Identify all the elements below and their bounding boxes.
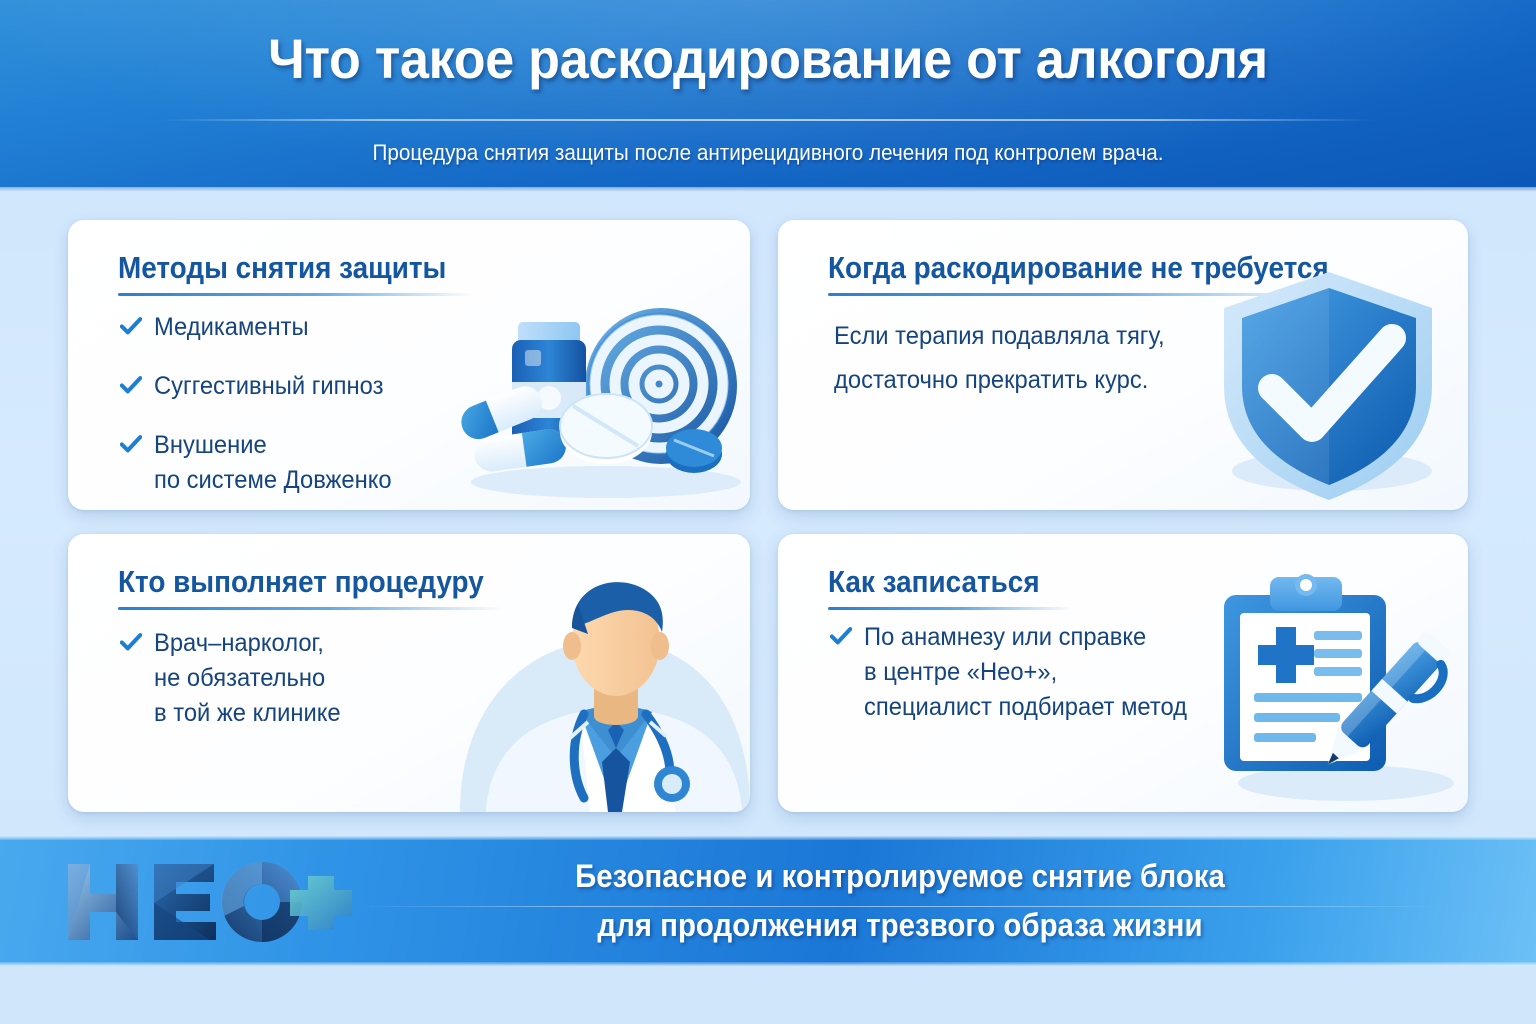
card-title: Методы снятия защиты [118, 250, 651, 286]
list-item-label: Медикаменты [154, 310, 309, 345]
footer-tagline: Безопасное и контролируемое снятие блока… [360, 852, 1440, 950]
list-item: Суггестивный гипноз [120, 369, 404, 404]
list-item-label: Суггестивный гипноз [154, 369, 383, 404]
list-item-label: Врач–нарколог, не обязательно в той же к… [154, 626, 341, 731]
check-icon [120, 433, 142, 455]
page-subtitle: Процедура снятия защиты после антирециди… [46, 140, 1490, 166]
card-how-to-book: Как записаться По анамнезу или справке в… [778, 534, 1468, 812]
neo-plus-logo [62, 858, 352, 946]
list-item: Врач–нарколог, не обязательно в той же к… [120, 626, 350, 731]
title-underline [118, 607, 502, 610]
list-item-label: Внушение по системе Довженко [154, 428, 392, 498]
pills-and-spiral-icon [446, 274, 746, 504]
footer-line-2: для продолжения трезвого образа жизни [403, 901, 1397, 950]
card-title: Когда раскодирование не требуется [828, 250, 1368, 286]
card-header: Кто выполняет процедуру [118, 564, 710, 610]
card-header: Когда раскодирование не требуется [828, 250, 1428, 296]
list-item: Медикаменты [120, 310, 404, 345]
title-underline [828, 607, 1072, 610]
list-item-label: По анамнезу или справке в центре «Нео+»,… [864, 620, 1187, 725]
header-divider [160, 119, 1376, 121]
check-icon [120, 631, 142, 653]
footer-divider [360, 906, 1440, 907]
footer-band: Безопасное и контролируемое снятие блока… [0, 836, 1536, 966]
bullet-list: Медикаменты Суггестивный гипноз Внушение… [120, 310, 404, 510]
list-item: Внушение по системе Довженко [120, 428, 404, 498]
card-title: Как записаться [828, 564, 1368, 600]
check-icon [120, 315, 142, 337]
card-title: Кто выполняет процедуру [118, 564, 651, 600]
infographic-poster: Что такое раскодирование от алкоголя Про… [0, 0, 1536, 1024]
title-underline [828, 293, 1326, 296]
page-title: Что такое раскодирование от алкоголя [54, 26, 1482, 91]
header-band: Что такое раскодирование от алкоголя Про… [0, 0, 1536, 192]
card-when-not-needed: Когда раскодирование не требуется Если т… [778, 220, 1468, 510]
card-header: Методы снятия защиты [118, 250, 710, 296]
title-underline [118, 293, 473, 296]
list-item: По анамнезу или справке в центре «Нео+»,… [830, 620, 1204, 725]
card-paragraph: Если терапия подавляла тягу, достаточно … [834, 314, 1165, 402]
card-who-performs: Кто выполняет процедуру Врач–нарколог, н… [68, 534, 750, 812]
check-icon [120, 374, 142, 396]
check-icon [830, 625, 852, 647]
footer-line-1: Безопасное и контролируемое снятие блока [403, 852, 1397, 901]
bullet-list: Врач–нарколог, не обязательно в той же к… [120, 626, 350, 749]
bullet-list: По анамнезу или справке в центре «Нео+»,… [830, 620, 1204, 743]
card-header: Как записаться [828, 564, 1428, 610]
card-methods: Методы снятия защиты Медикаменты Суггест… [68, 220, 750, 510]
